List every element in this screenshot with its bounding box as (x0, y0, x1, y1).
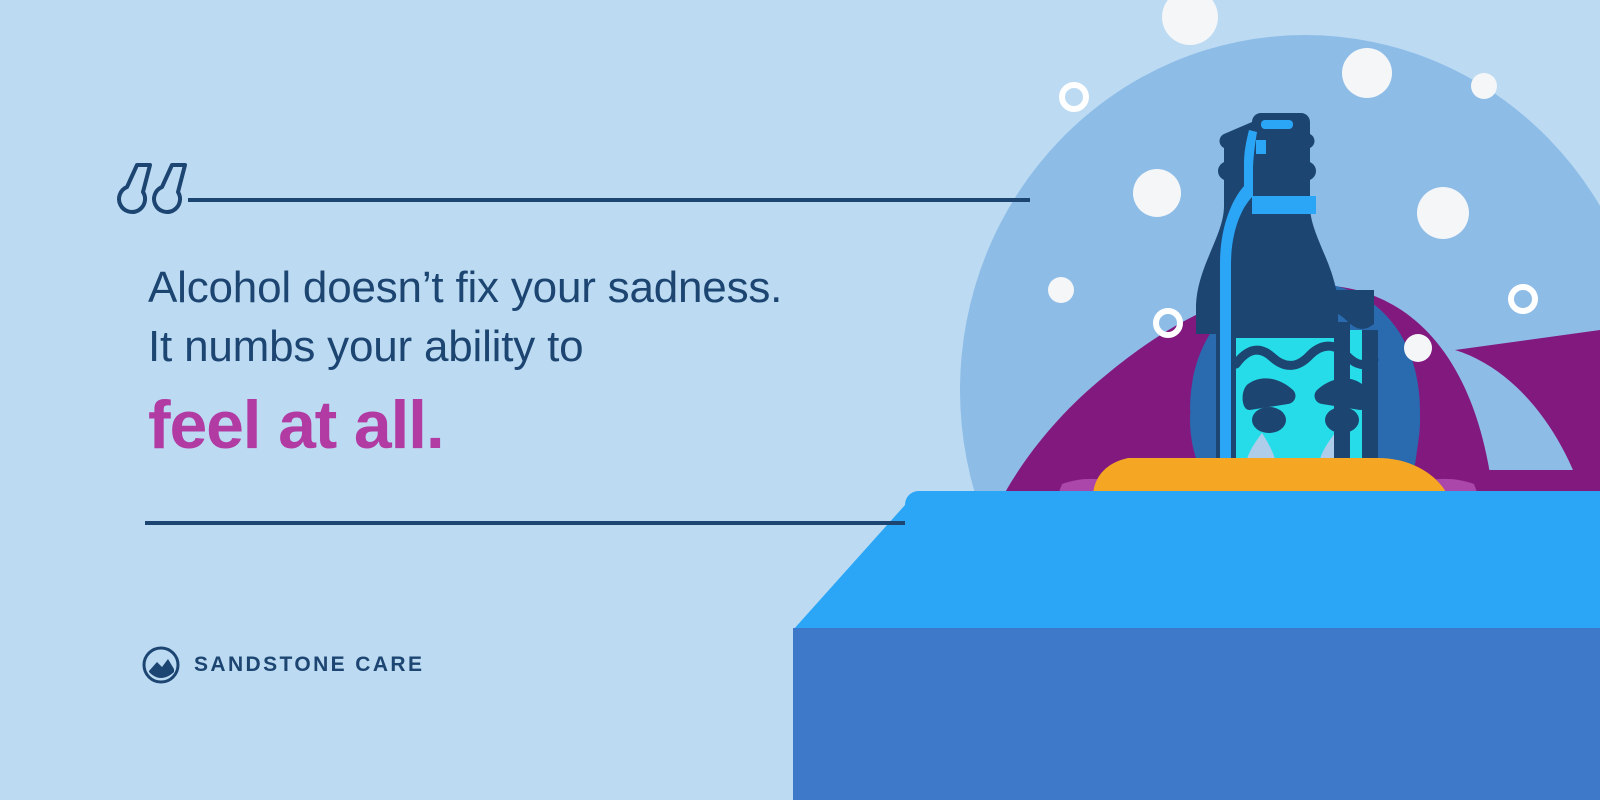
headline-line-1: Alcohol doesn’t fix your sadness. (148, 258, 968, 317)
headline-line-2: It numbs your ability to (148, 317, 968, 376)
rule-top (188, 198, 1030, 202)
sandstone-mountain-icon (141, 645, 181, 685)
open-quote-icon (116, 162, 190, 216)
brand-name: SANDSTONE CARE (194, 653, 424, 677)
rule-bottom (145, 521, 905, 525)
headline: Alcohol doesn’t fix your sadness. It num… (148, 258, 968, 376)
quote-card: Alcohol doesn’t fix your sadness. It num… (0, 0, 1600, 800)
brand-logo: SANDSTONE CARE (141, 645, 424, 685)
emphasis-text: feel at all. (148, 384, 444, 466)
